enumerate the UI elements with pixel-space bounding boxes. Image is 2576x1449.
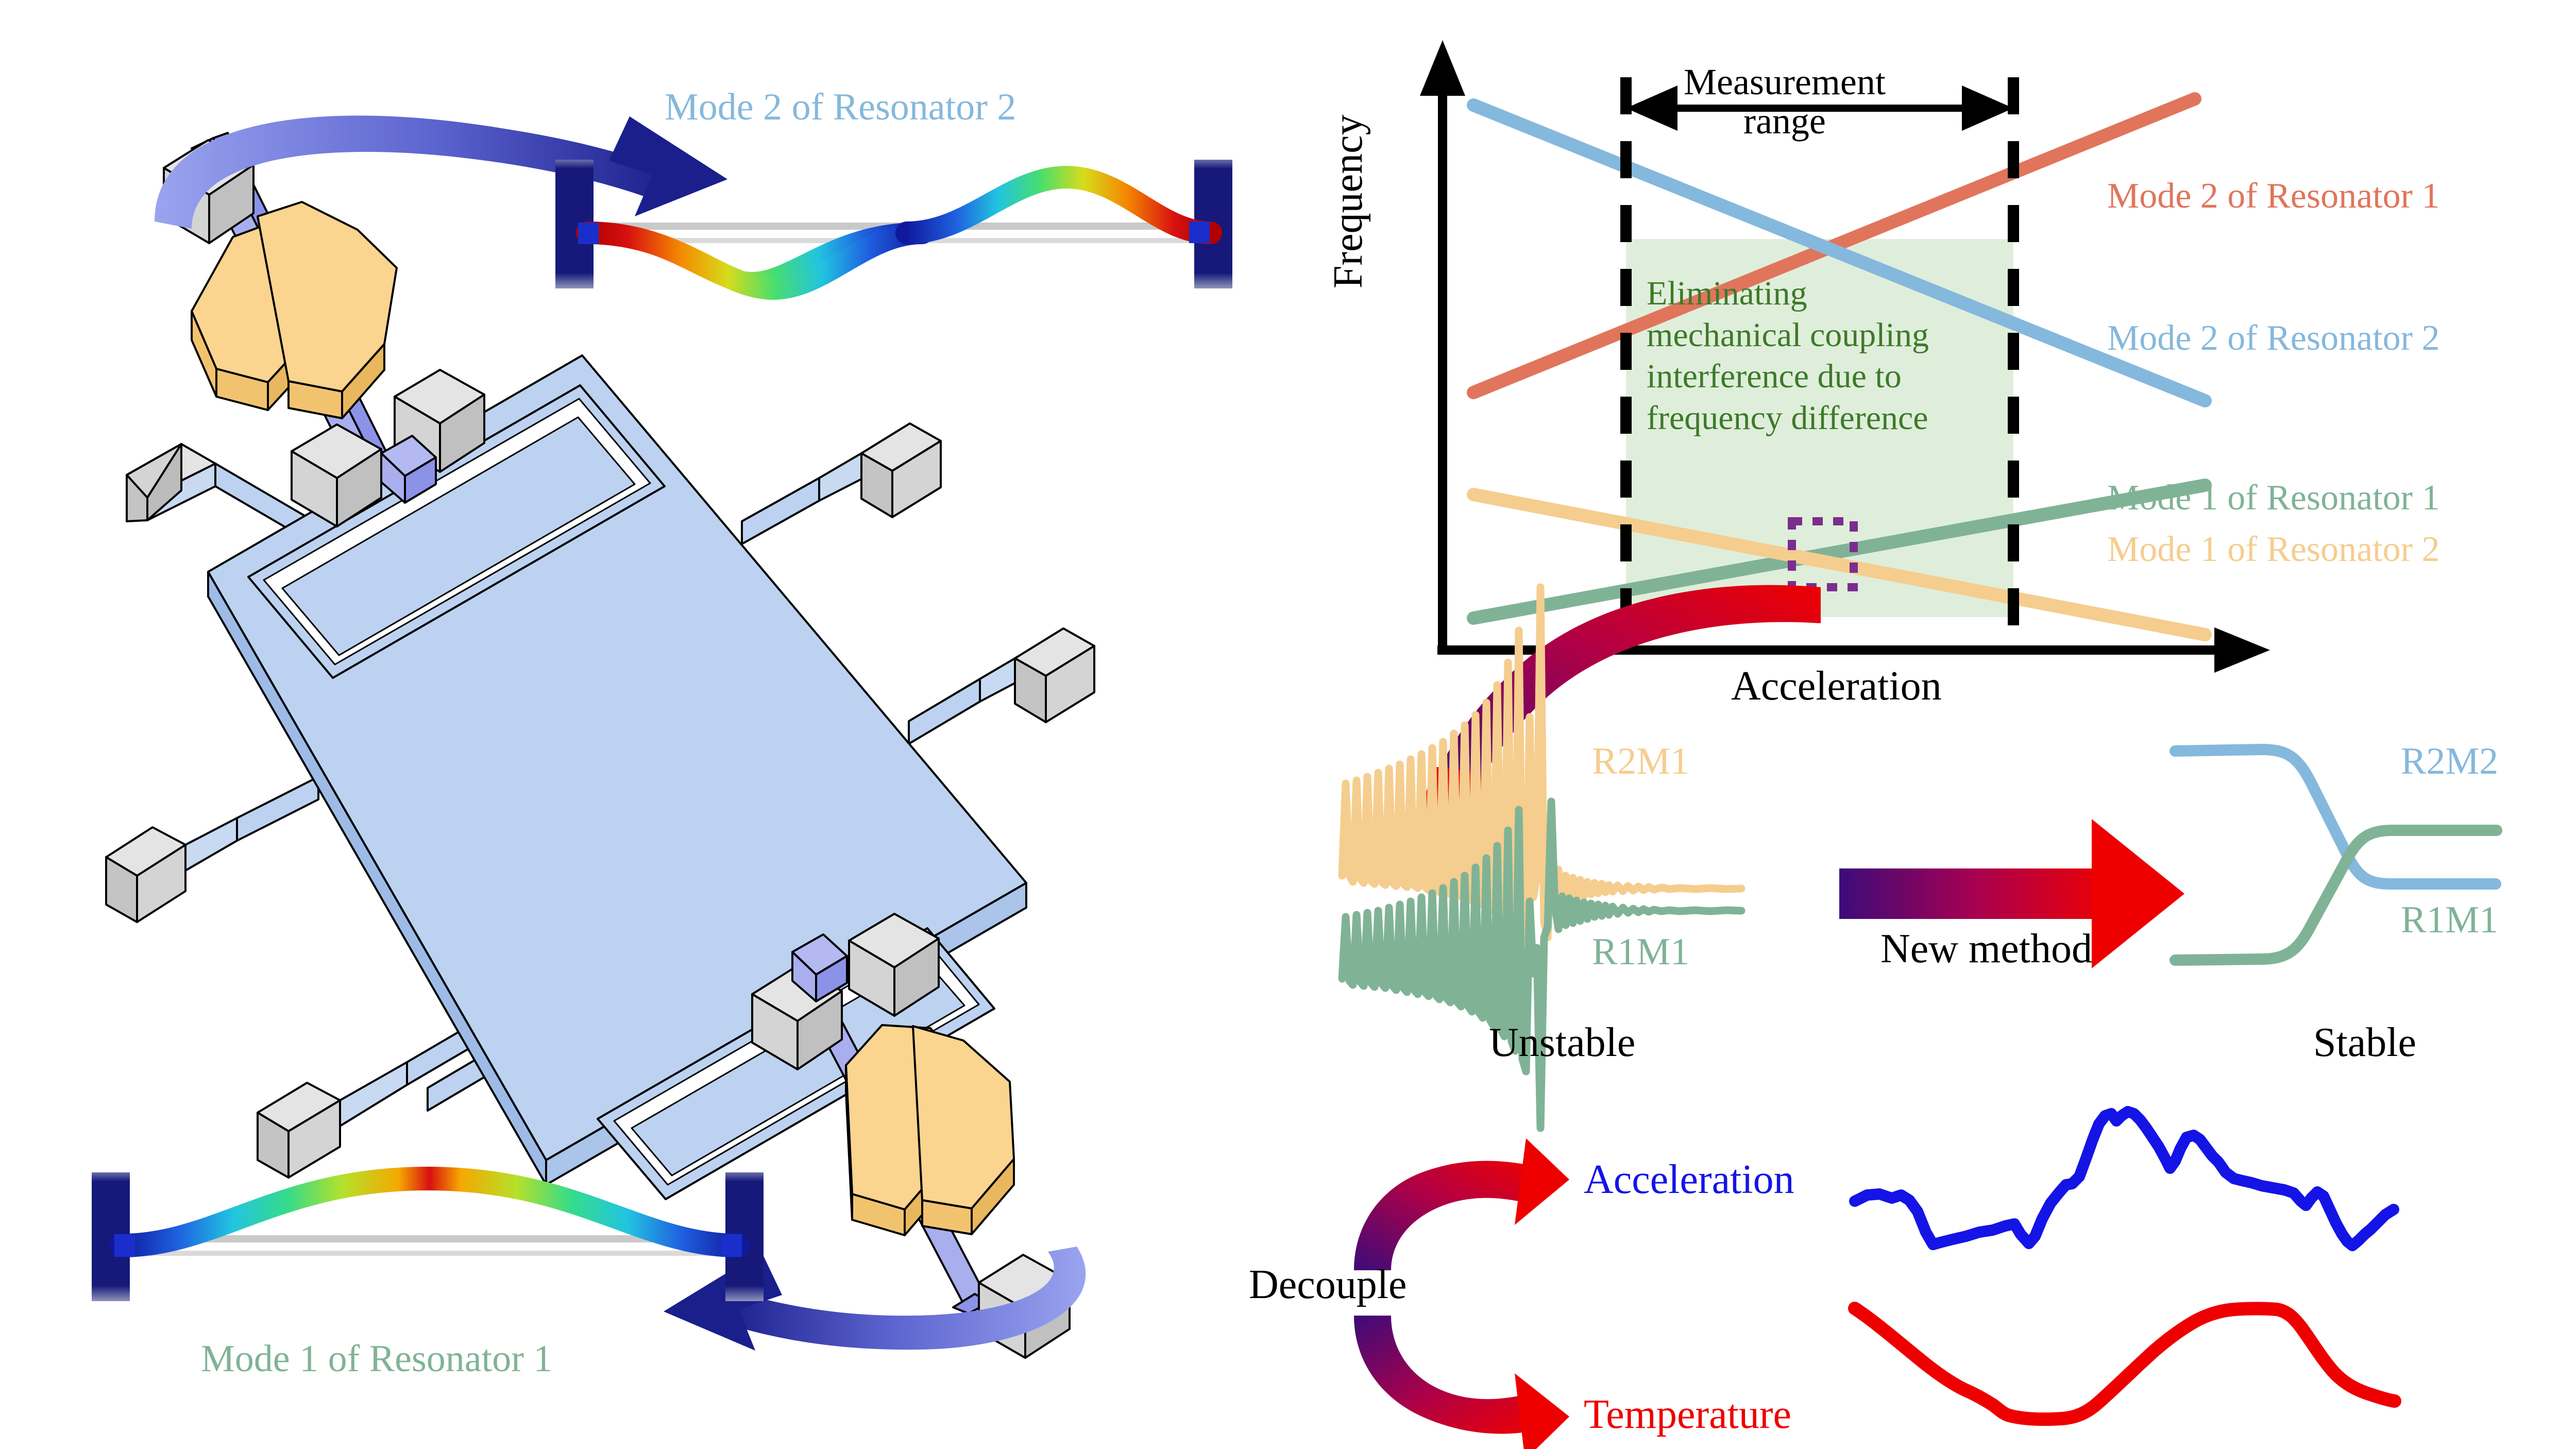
measurement-range-line1: Measurement [1684,61,1886,103]
trace-label-r2m1: R2M1 [1592,742,1689,782]
anchor-right-mid [909,628,1094,744]
anchor-left-mid [106,777,318,922]
anchor-right-upper [742,423,941,544]
decouple-output-temperature: Temperature [1584,1393,1791,1436]
decouple-output-acceleration: Acceleration [1584,1158,1794,1201]
trace-label-r1m1-stable: R1M1 [2401,900,2498,941]
figure-root: Mode 2 of Resonator 2 Mode 1 of Resonato… [0,0,2576,1449]
measurement-range-line2: range [1743,100,1826,142]
series-label-mode2-res2: Mode 2 of Resonator 2 [2107,319,2439,357]
x-axis-arrowhead [2214,627,2270,673]
measurement-range-label: Measurement range [1684,63,1886,141]
decouple-arrow-acceleration [1354,1138,1569,1270]
shaded-region-text: Eliminating mechanical coupling interfer… [1647,273,1929,439]
mode2-resonator2-caption: Mode 2 of Resonator 2 [665,88,1016,128]
mems-device-illustration [106,133,1094,1358]
decouple-source-label: Decouple [1249,1263,1407,1306]
trace-label-r2m2: R2M2 [2401,742,2498,782]
region-text-line3: interference due to [1647,357,1902,395]
new-method-label: New method [1880,927,2092,970]
decouple-arrow-temperature [1354,1316,1569,1449]
trace-label-r1m1-unstable: R1M1 [1592,932,1689,973]
region-text-line2: mechanical coupling [1647,316,1929,354]
mode1-resonator1-caption: Mode 1 of Resonator 1 [201,1339,552,1379]
region-text-line1: Eliminating [1647,275,1807,312]
stable-caption: Stable [2313,1021,2416,1064]
y-axis-arrowhead [1420,40,1465,96]
temperature-signal-trace [1855,1308,2395,1419]
chart-y-axis-label: Frequency [1327,114,1370,288]
region-text-line4: frequency difference [1647,399,1928,437]
series-label-mode1-res2: Mode 1 of Resonator 2 [2107,531,2439,569]
series-label-mode2-res1: Mode 2 of Resonator 1 [2107,177,2439,215]
graphical-abstract-canvas [0,0,2576,1449]
acceleration-signal-trace [1855,1112,2394,1246]
unstable-caption: Unstable [1489,1021,1635,1064]
series-label-mode1-res1: Mode 1 of Resonator 1 [2107,479,2439,517]
chart-x-axis-label: Acceleration [1731,664,1942,708]
